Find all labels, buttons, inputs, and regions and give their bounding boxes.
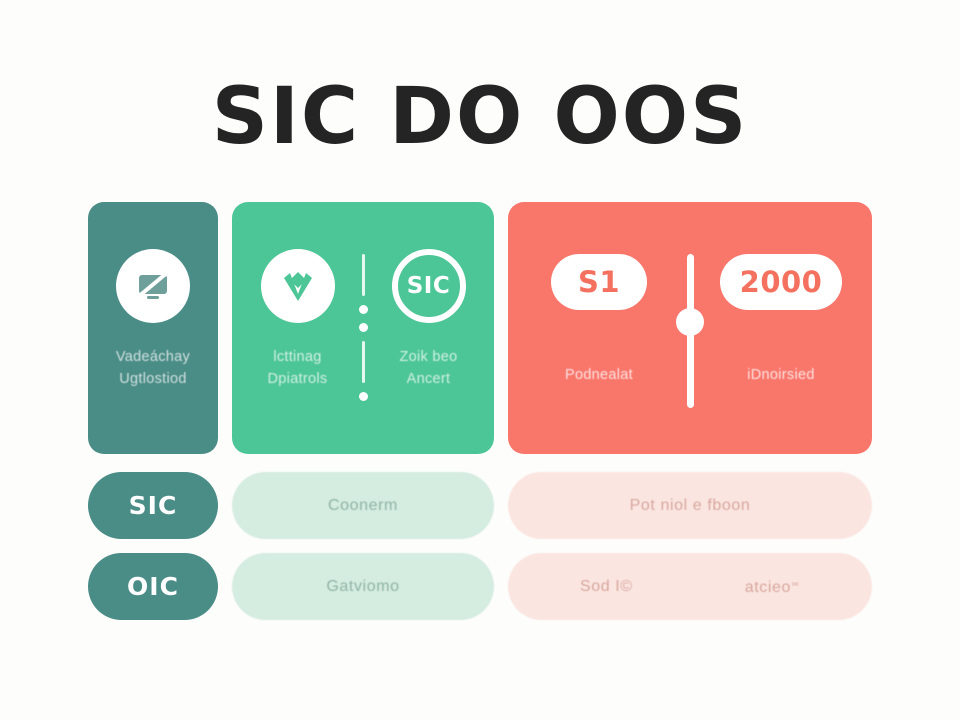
row-bar-blush[interactable]: Pot niol e fboon	[508, 472, 872, 539]
panel-teal-cell-1[interactable]: Vadeáchay Ugtlostiod	[88, 202, 218, 454]
screen-off-glyph	[132, 265, 174, 307]
value-pill-s1[interactable]: S1	[551, 254, 647, 310]
row-bar-blush[interactable]: Sod I© atcieo⁼	[508, 553, 872, 620]
table-row: SIC Coonerm Pot niol e fboon	[88, 472, 872, 539]
page-title: SIC DO OOS	[0, 78, 960, 156]
table-row: OIC Gatviomo Sod I© atcieo⁼	[88, 553, 872, 620]
divider-line-segment	[362, 254, 365, 296]
screen-off-icon	[116, 249, 190, 323]
panel-row: Vadeáchay Ugtlostiod lcttinag	[88, 202, 872, 454]
panel-green[interactable]: lcttinag Dpiatrols SIC Zoik beo Ancert	[232, 202, 494, 454]
divider-dot	[359, 305, 368, 314]
divider-dot	[359, 392, 368, 401]
panel-green-cell-2[interactable]: SIC Zoik beo Ancert	[363, 202, 494, 454]
row-bar-blush-label-2: atcieo⁼	[745, 577, 800, 597]
vertical-slider[interactable]	[676, 254, 704, 408]
divider-dot	[359, 323, 368, 332]
cell-glyph	[116, 248, 190, 324]
bottom-rows: SIC Coonerm Pot niol e fboon OIC Gatviom…	[88, 472, 872, 634]
cell-label: Vadeáchay Ugtlostiod	[110, 346, 196, 391]
cell-glyph	[261, 248, 335, 324]
divider-line-segment	[362, 341, 365, 383]
panel-teal[interactable]: Vadeáchay Ugtlostiod	[88, 202, 218, 454]
row-bar-mint[interactable]: Gatviomo	[232, 553, 494, 620]
cell-label: Zoik beo Ancert	[393, 346, 463, 391]
cell-label: iDnoirsied	[741, 364, 820, 386]
cell-label: Podnealat	[559, 364, 639, 386]
panel-teal-cells: Vadeáchay Ugtlostiod	[88, 202, 218, 454]
row-chip-oic[interactable]: OIC	[88, 553, 218, 620]
row-bar-mint[interactable]: Coonerm	[232, 472, 494, 539]
page-canvas: SIC DO OOS Vadeáchay Ugtlostio	[0, 0, 960, 720]
panel-coral-cell-2[interactable]: 2000 iDnoirsied	[690, 202, 872, 454]
panel-green-cell-1[interactable]: lcttinag Dpiatrols	[232, 202, 363, 454]
cell-label: lcttinag Dpiatrols	[262, 346, 334, 391]
chevron-shield-icon	[261, 249, 335, 323]
panel-coral[interactable]: S1 Podnealat 2000 iDnoirsied	[508, 202, 872, 454]
row-chip-sic[interactable]: SIC	[88, 472, 218, 539]
slider-knob[interactable]	[676, 308, 704, 336]
value-pill-2000[interactable]: 2000	[720, 254, 843, 310]
row-bar-blush-label-1: Sod I©	[580, 578, 633, 596]
cell-glyph: SIC	[392, 248, 466, 324]
sic-badge-icon: SIC	[392, 249, 466, 323]
dotted-vertical-divider	[358, 254, 368, 414]
chevron-shield-glyph	[276, 264, 320, 308]
panel-coral-cell-1[interactable]: S1 Podnealat	[508, 202, 690, 454]
